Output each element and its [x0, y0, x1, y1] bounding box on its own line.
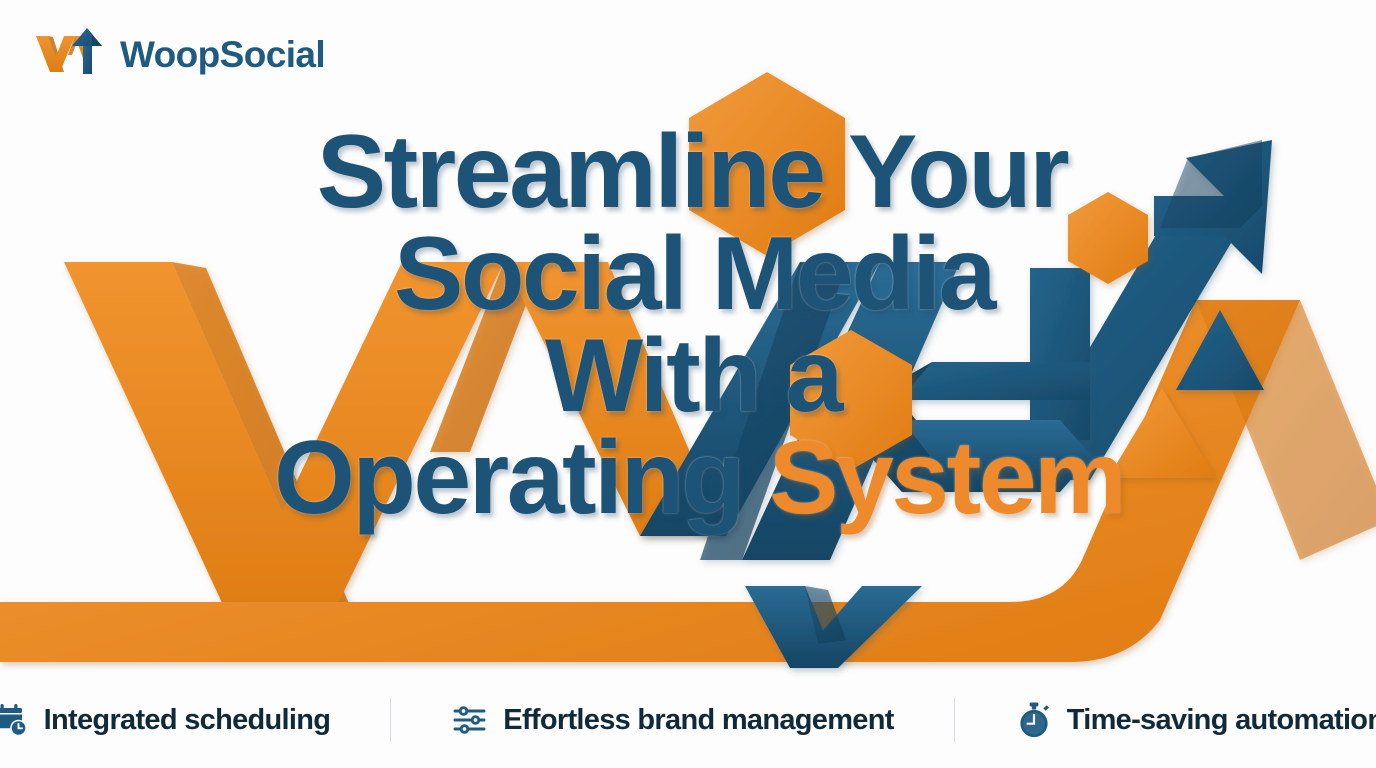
feature-divider: [954, 698, 955, 742]
sliders-icon: [451, 701, 489, 739]
feature-item-integrated-scheduling: Integrated scheduling: [0, 701, 330, 739]
feature-item-time-saving-automation: Time-saving automation: [1015, 701, 1376, 739]
brand-name: WoopSocial: [120, 36, 325, 73]
feature-list: Integrated scheduling Effortless brand m…: [0, 698, 1376, 742]
brand-logo[interactable]: WoopSocial: [34, 28, 325, 80]
headline-line-1: Streamline Your: [0, 122, 1376, 224]
hero-banner: WoopSocial Streamline Your Social Media …: [0, 0, 1376, 768]
chevron-blue-bottom: [745, 586, 922, 668]
feature-label: Effortless brand management: [503, 706, 893, 735]
headline-line-2: Social Media: [0, 224, 1376, 326]
calendar-clock-icon: [0, 701, 30, 739]
stopwatch-icon: [1015, 701, 1053, 739]
feature-item-effortless-brand-management: Effortless brand management: [451, 701, 893, 739]
headline-line-4-prefix: Operating: [274, 420, 743, 536]
headline-line-4-accent: System: [769, 420, 1124, 536]
feature-label: Time-saving automation: [1067, 706, 1376, 735]
woopsocial-w-arrow-logo-icon: [34, 28, 106, 80]
feature-divider: [390, 698, 391, 742]
headline: Streamline Your Social Media With a Oper…: [0, 122, 1376, 530]
feature-label: Integrated scheduling: [44, 706, 331, 735]
headline-line-3: With a: [0, 326, 1376, 428]
headline-line-4: Operating System: [0, 428, 1376, 530]
